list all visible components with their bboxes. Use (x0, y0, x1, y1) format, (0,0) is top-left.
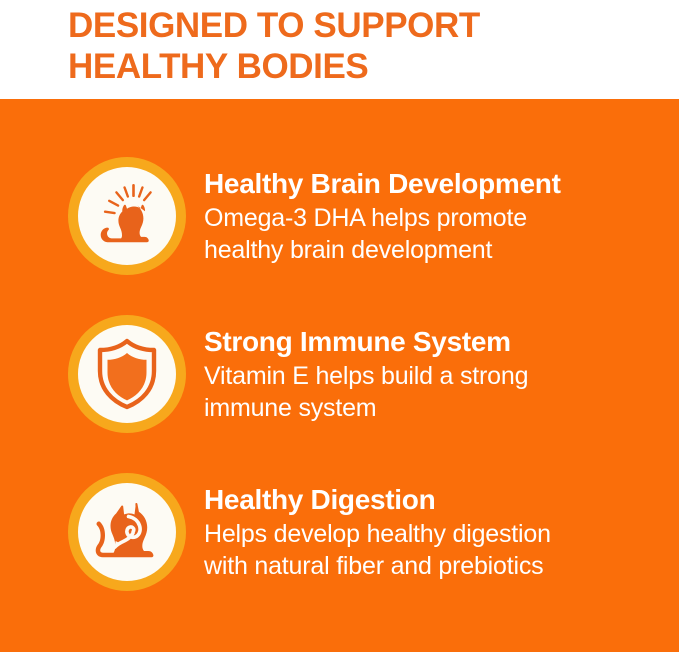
feature-heading-digestion: Healthy Digestion (204, 483, 665, 516)
feature-heading-brain: Healthy Brain Development (204, 167, 665, 200)
feature-body-brain: Omega-3 DHA helps promote healthy brain … (204, 202, 665, 266)
header-banner: DESIGNED TO SUPPORT HEALTHY BODIES (0, 0, 679, 99)
product-benefits-infographic: DESIGNED TO SUPPORT HEALTHY BODIES (0, 0, 679, 652)
feature-text-digestion: Healthy Digestion Helps develop healthy … (204, 473, 679, 582)
cat-digestion-icon (88, 495, 166, 569)
feature-row-brain: Healthy Brain Development Omega-3 DHA he… (0, 157, 679, 275)
badge-inner-digestion (78, 483, 176, 581)
shield-icon (93, 338, 161, 410)
feature-body-immune: Vitamin E helps build a strong immune sy… (204, 360, 665, 424)
feature-row-immune: Strong Immune System Vitamin E helps bui… (0, 315, 679, 433)
feature-body-digestion: Helps develop healthy digestion with nat… (204, 518, 665, 582)
page-title: DESIGNED TO SUPPORT HEALTHY BODIES (68, 5, 679, 87)
feature-heading-immune: Strong Immune System (204, 325, 665, 358)
badge-brain (68, 157, 186, 275)
cat-thinking-icon (89, 178, 165, 254)
badge-inner-immune (78, 325, 176, 423)
feature-row-digestion: Healthy Digestion Helps develop healthy … (0, 473, 679, 591)
badge-immune (68, 315, 186, 433)
features-panel: Healthy Brain Development Omega-3 DHA he… (0, 99, 679, 652)
feature-text-brain: Healthy Brain Development Omega-3 DHA he… (204, 157, 679, 266)
badge-inner-brain (78, 167, 176, 265)
badge-digestion (68, 473, 186, 591)
feature-text-immune: Strong Immune System Vitamin E helps bui… (204, 315, 679, 424)
